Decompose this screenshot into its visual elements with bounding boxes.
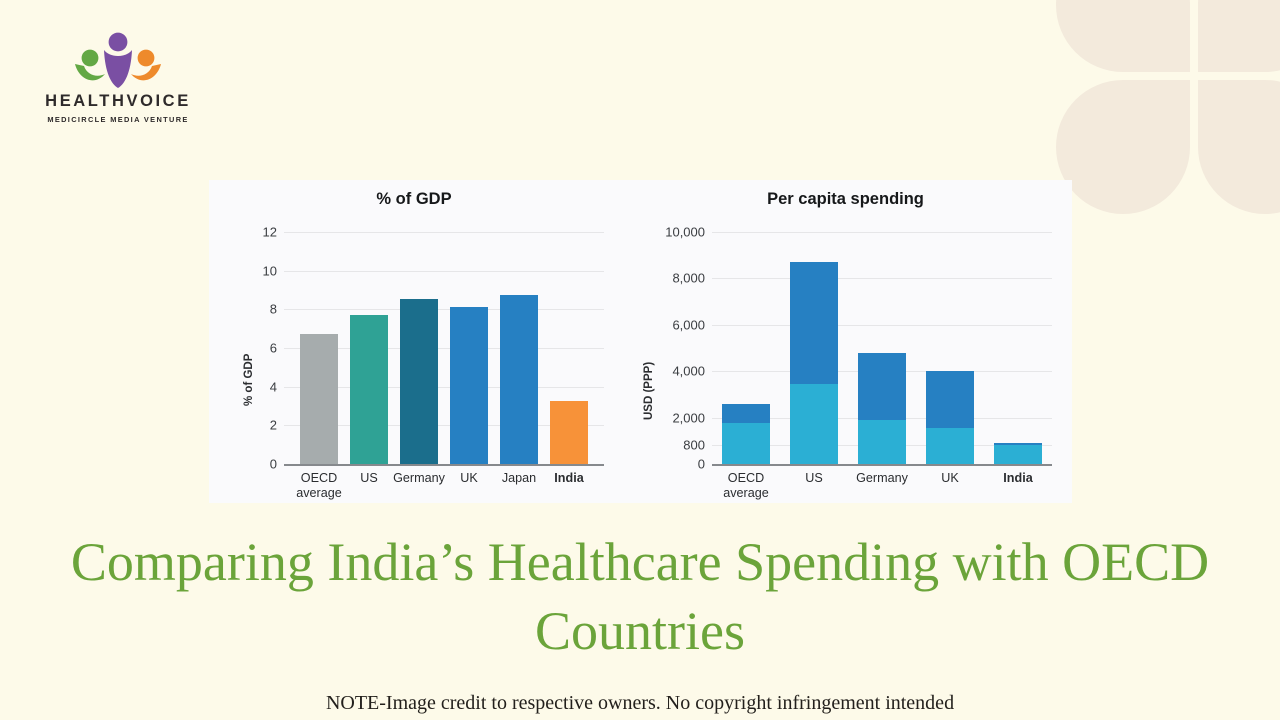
x-axis-label-india: India [554,471,583,486]
bar-uk[interactable] [450,307,488,464]
x-axis-label-india: India [1003,471,1032,486]
y-axis-tick-label: 8 [270,302,277,317]
bar-india[interactable] [994,443,1042,464]
chart-percent-of-gdp: % of GDP % of GDP 024681012OECDaverageUS… [209,180,619,503]
y-axis-tick-label: 2 [270,418,277,433]
gridline [284,232,604,233]
y-axis-tick-label: 10 [263,263,277,278]
y-axis-tick-label: 10,000 [665,225,705,240]
x-axis-baseline [284,464,604,466]
bar-segment-upper-segment [790,262,838,384]
y-axis-title-capita: USD (PPP) [643,362,655,420]
bar-segment-upper-segment [722,404,770,424]
bar-segment-lower-segment [790,384,838,464]
y-axis-tick-label: 0 [270,457,277,472]
bar-us[interactable] [790,262,838,464]
gridline [712,325,1052,326]
x-axis-label-japan: Japan [502,471,536,486]
bar-germany[interactable] [858,353,906,464]
chart-title-capita: Per capita spending [619,190,1072,209]
bar-us[interactable] [350,315,388,464]
x-axis-label-oecd-average: OECDaverage [296,471,342,501]
brand-logo: HEALTHVOICE MEDICIRCLE MEDIA VENTURE [28,28,208,136]
x-axis-label-uk: UK [941,471,959,486]
bar-segment-lower-segment [926,428,974,464]
healthvoice-people-icon [63,28,173,90]
bar-segment-upper-segment [926,371,974,428]
bar-india[interactable] [550,401,588,464]
gridline [284,271,604,272]
y-axis-tick-label: 6,000 [672,317,705,332]
bar-uk[interactable] [926,371,974,464]
logo-wordmark: HEALTHVOICE [28,92,208,111]
page-title: Comparing India’s Healthcare Spending wi… [0,528,1280,666]
y-axis-tick-label: 4 [270,379,277,394]
logo-tagline: MEDICIRCLE MEDIA VENTURE [28,115,208,124]
clover-petal-bottom-right [1198,80,1280,214]
plot-area-gdp: 024681012OECDaverageUSGermanyUKJapanIndi… [284,232,604,464]
clover-petal-top-left [1056,0,1190,72]
bar-segment-upper-segment [994,443,1042,445]
chart-title-gdp: % of GDP [209,190,619,209]
y-axis-tick-label: 12 [263,225,277,240]
bar-segment-upper-segment [858,353,906,421]
y-axis-tick-label: 800 [683,438,705,453]
bar-germany[interactable] [400,299,438,464]
gridline [712,278,1052,279]
bar-oecd-average[interactable] [722,404,770,464]
bar-oecd-average[interactable] [300,334,338,464]
y-axis-tick-label: 2,000 [672,410,705,425]
decorative-clover-shape [1056,0,1280,228]
bar-segment-lower-segment [994,445,1042,464]
clover-petal-bottom-left [1056,80,1190,214]
copyright-note: NOTE-Image credit to respective owners. … [0,692,1280,715]
x-axis-label-oecd-average: OECDaverage [723,471,769,501]
bar-segment-lower-segment [858,420,906,464]
x-axis-label-germany: Germany [393,471,445,486]
y-axis-tick-label: 8,000 [672,271,705,286]
x-axis-baseline [712,464,1052,466]
y-axis-tick-label: 6 [270,341,277,356]
y-axis-tick-label: 0 [698,457,705,472]
clover-petal-top-right [1198,0,1280,72]
y-axis-tick-label: 4,000 [672,364,705,379]
x-axis-label-germany: Germany [856,471,908,486]
charts-panel: % of GDP % of GDP 024681012OECDaverageUS… [209,180,1072,503]
x-axis-label-uk: UK [460,471,478,486]
x-axis-label-us: US [805,471,823,486]
x-axis-label-us: US [360,471,378,486]
gridline [284,309,604,310]
bar-segment-lower-segment [722,423,770,464]
bar-japan[interactable] [500,295,538,464]
plot-area-capita: 08002,0004,0006,0008,00010,000OECDaverag… [712,232,1052,464]
y-axis-title-gdp: % of GDP [243,354,255,406]
gridline [712,232,1052,233]
chart-per-capita-spending: Per capita spending USD (PPP) 08002,0004… [619,180,1072,503]
